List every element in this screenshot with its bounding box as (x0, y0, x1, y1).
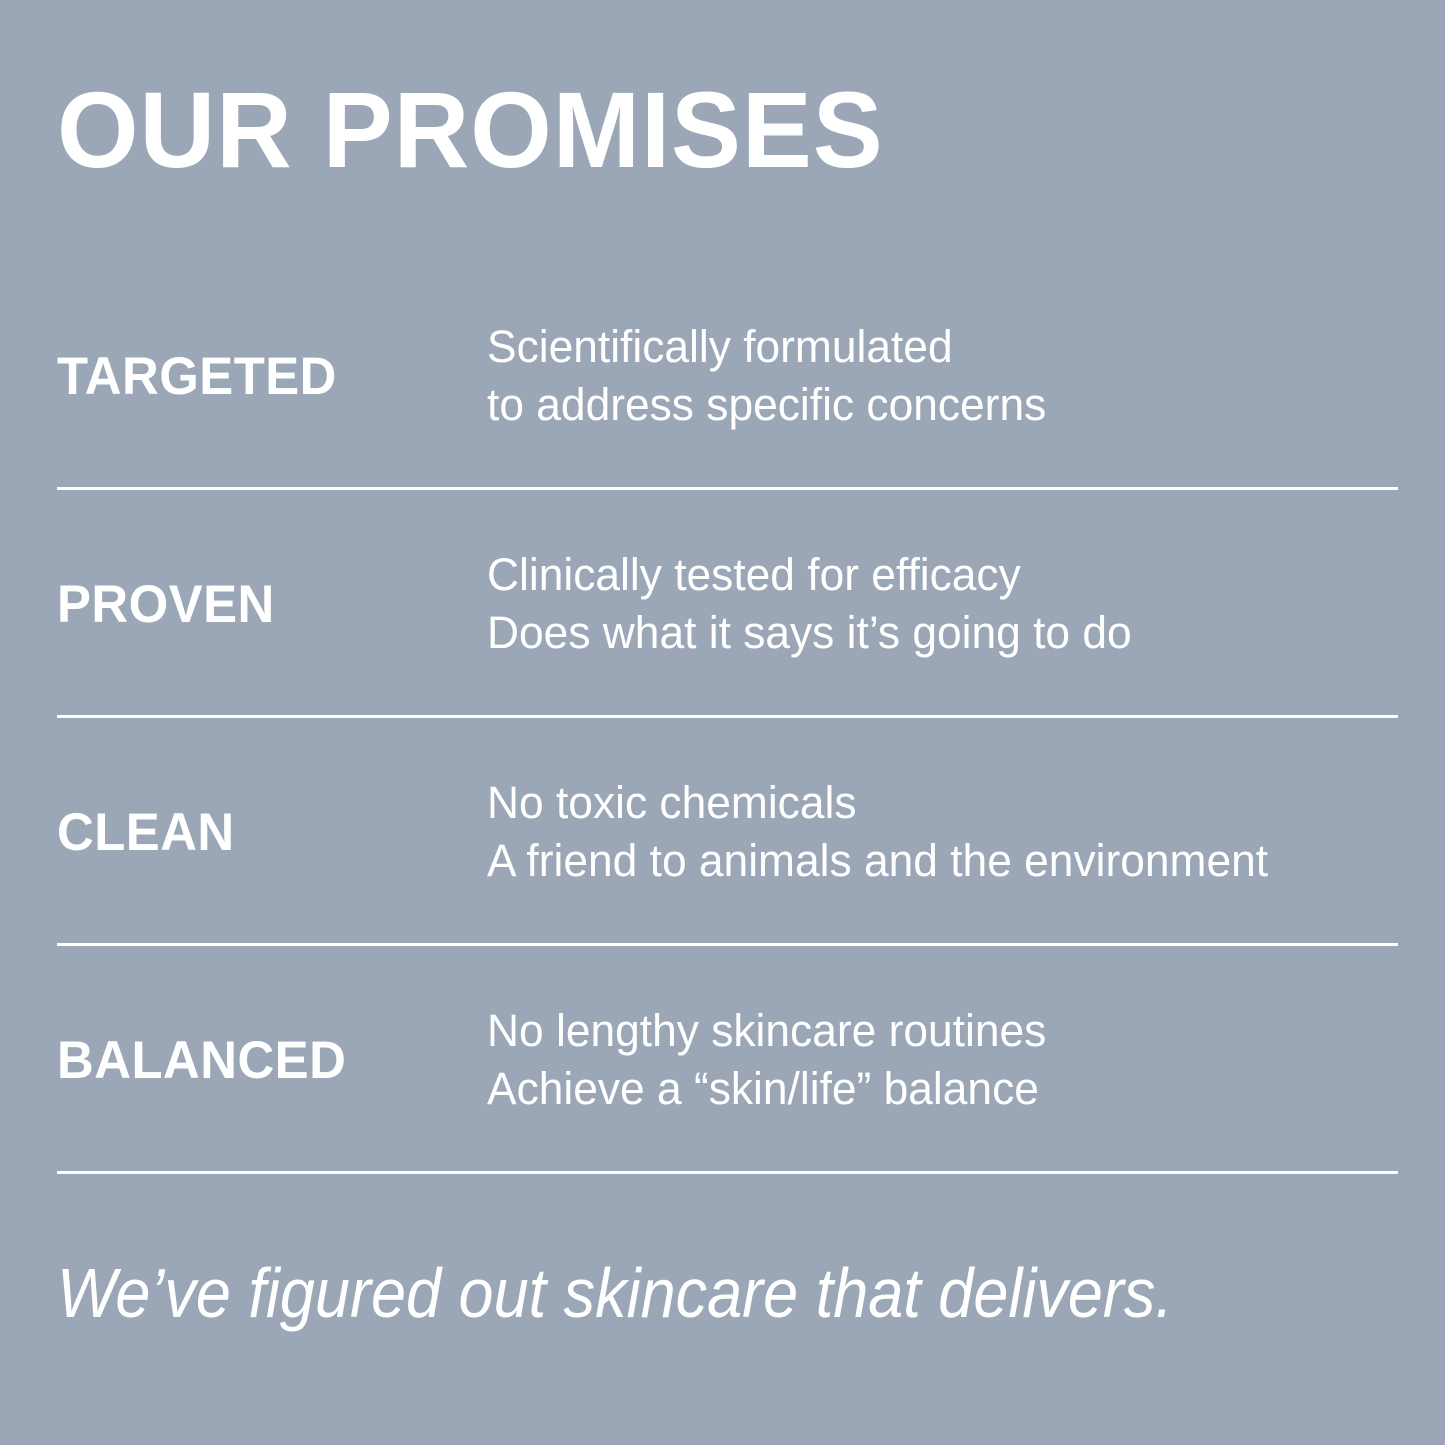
row-divider (57, 1171, 1398, 1174)
promise-label-proven: PROVEN (57, 578, 470, 631)
promise-description-line-2: Does what it says it’s going to do (487, 604, 1384, 663)
promise-row-proven: PROVEN Clinically tested for efficacy Do… (0, 490, 1445, 718)
promise-label-balanced: BALANCED (57, 1034, 470, 1087)
promise-description-clean: No toxic chemicals A friend to animals a… (487, 774, 1384, 891)
promise-label-targeted: TARGETED (57, 350, 470, 403)
promise-description-proven: Clinically tested for efficacy Does what… (487, 546, 1384, 663)
promise-description-targeted: Scientifically formulated to address spe… (487, 318, 1384, 435)
promise-list: TARGETED Scientifically formulated to ad… (0, 262, 1445, 1174)
promise-row-clean: CLEAN No toxic chemicals A friend to ani… (0, 718, 1445, 946)
promise-description-line-2: A friend to animals and the environment (487, 832, 1384, 891)
promise-row-balanced: BALANCED No lengthy skincare routines Ac… (0, 946, 1445, 1174)
promise-row-content: BALANCED No lengthy skincare routines Ac… (57, 946, 1398, 1174)
promise-description-line-1: No lengthy skincare routines (487, 1002, 1384, 1061)
footer-tagline: We’ve figured out skincare that delivers… (57, 1258, 1173, 1328)
promise-description-line-2: to address specific concerns (487, 376, 1384, 435)
promise-description-line-1: Scientifically formulated (487, 318, 1384, 377)
our-promises-card: OUR PROMISES TARGETED Scientifically for… (0, 0, 1445, 1445)
page-title: OUR PROMISES (57, 76, 884, 184)
promise-description-line-1: No toxic chemicals (487, 774, 1384, 833)
promise-description-line-1: Clinically tested for efficacy (487, 546, 1384, 605)
promise-row-content: PROVEN Clinically tested for efficacy Do… (57, 490, 1398, 718)
promise-label-clean: CLEAN (57, 806, 470, 859)
promise-row-content: TARGETED Scientifically formulated to ad… (57, 262, 1398, 490)
promise-description-balanced: No lengthy skincare routines Achieve a “… (487, 1002, 1384, 1119)
promise-row-content: CLEAN No toxic chemicals A friend to ani… (57, 718, 1398, 946)
promise-row-targeted: TARGETED Scientifically formulated to ad… (0, 262, 1445, 490)
promise-description-line-2: Achieve a “skin/life” balance (487, 1060, 1384, 1119)
